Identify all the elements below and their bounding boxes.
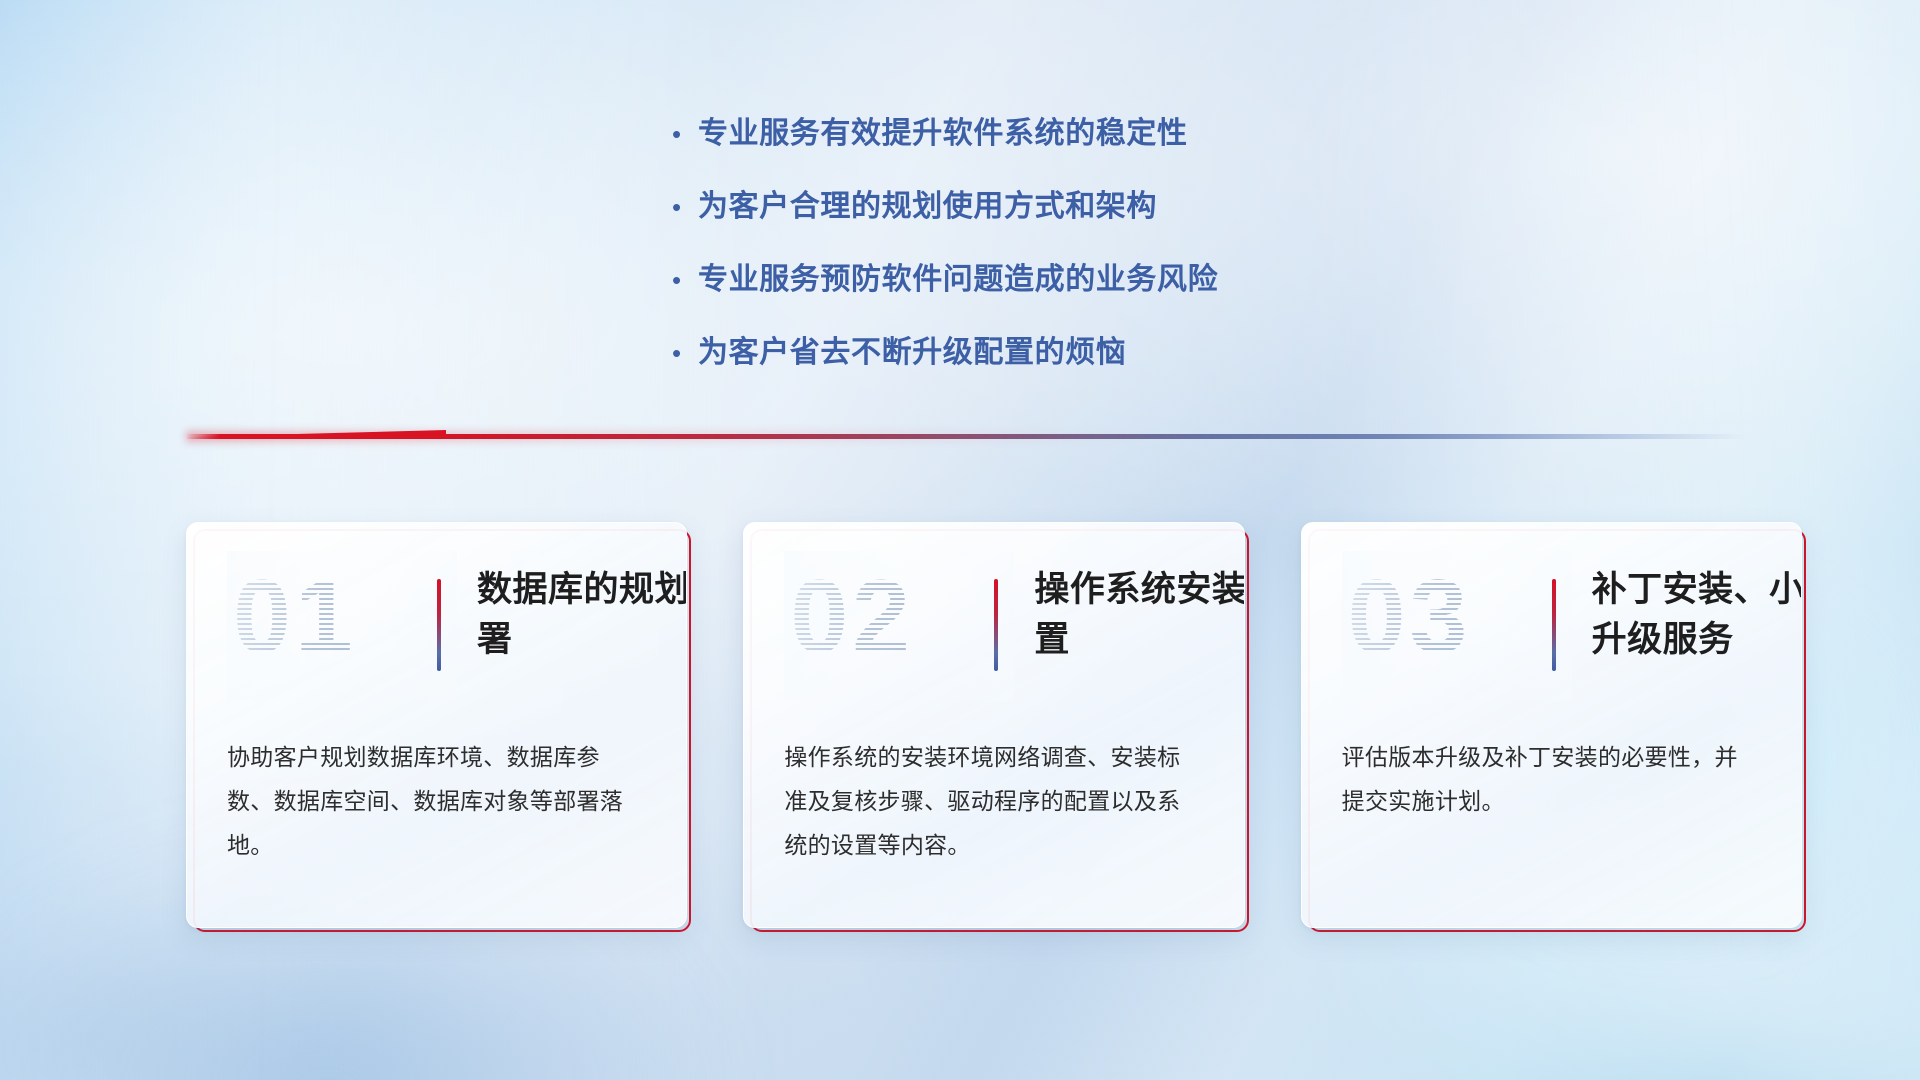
service-card-02[interactable]: 02 操作系统安装与设置 操作系统的安装环境网络调查、安装标准及复核步骤、驱动程… — [743, 522, 1244, 928]
bullet-text: 专业服务有效提升软件系统的稳定性 — [698, 112, 1188, 156]
list-item: • 为客户合理的规划使用方式和架构 — [672, 185, 1572, 229]
slide-root: • 专业服务有效提升软件系统的稳定性 • 为客户合理的规划使用方式和架构 • 专… — [0, 0, 1920, 1080]
bullet-dot-icon: • — [672, 185, 698, 229]
card-body: 03 补丁安装、小版本升级服务 评估版本升级及补丁安装的必要性，并提交实施计划。 — [1301, 522, 1802, 928]
card-body: 02 操作系统安装与设置 操作系统的安装环境网络调查、安装标准及复核步骤、驱动程… — [743, 522, 1244, 928]
bullet-text: 为客户合理的规划使用方式和架构 — [698, 185, 1157, 229]
card-title: 操作系统安装与设置 — [1034, 565, 1244, 665]
service-cards-row: 01 数据库的规划与部署 协助客户规划数据库环境、数据库参数、数据库空间、数据库… — [186, 522, 1802, 928]
bullet-dot-icon: • — [672, 258, 698, 302]
bullet-text: 专业服务预防软件问题造成的业务风险 — [698, 258, 1218, 302]
card-number-ghost: 02 — [790, 553, 914, 681]
card-header: 02 操作系统安装与设置 — [784, 561, 1203, 689]
section-divider — [186, 428, 1746, 444]
card-accent-bar — [437, 579, 441, 671]
card-description: 协助客户规划数据库环境、数据库参数、数据库空间、数据库对象等部署落地。 — [227, 735, 646, 867]
card-accent-bar — [1552, 579, 1556, 671]
card-body: 01 数据库的规划与部署 协助客户规划数据库环境、数据库参数、数据库空间、数据库… — [186, 522, 687, 928]
benefits-bullet-list: • 专业服务有效提升软件系统的稳定性 • 为客户合理的规划使用方式和架构 • 专… — [672, 112, 1572, 404]
bullet-dot-icon: • — [672, 112, 698, 156]
bullet-text: 为客户省去不断升级配置的烦恼 — [698, 331, 1126, 375]
card-number-ghost: 03 — [1348, 553, 1472, 681]
list-item: • 专业服务有效提升软件系统的稳定性 — [672, 112, 1572, 156]
card-accent-bar — [994, 579, 998, 671]
card-number-ghost: 01 — [233, 553, 357, 681]
bullet-dot-icon: • — [672, 331, 698, 375]
card-description: 操作系统的安装环境网络调查、安装标准及复核步骤、驱动程序的配置以及系统的设置等内… — [784, 735, 1203, 867]
card-title: 数据库的规划与部署 — [477, 565, 687, 665]
list-item: • 为客户省去不断升级配置的烦恼 — [672, 331, 1572, 375]
list-item: • 专业服务预防软件问题造成的业务风险 — [672, 258, 1572, 302]
card-title: 补丁安装、小版本升级服务 — [1592, 565, 1802, 665]
service-card-03[interactable]: 03 补丁安装、小版本升级服务 评估版本升级及补丁安装的必要性，并提交实施计划。 — [1301, 522, 1802, 928]
card-description: 评估版本升级及补丁安装的必要性，并提交实施计划。 — [1342, 735, 1761, 823]
service-card-01[interactable]: 01 数据库的规划与部署 协助客户规划数据库环境、数据库参数、数据库空间、数据库… — [186, 522, 687, 928]
card-header: 03 补丁安装、小版本升级服务 — [1342, 561, 1761, 689]
card-header: 01 数据库的规划与部署 — [227, 561, 646, 689]
